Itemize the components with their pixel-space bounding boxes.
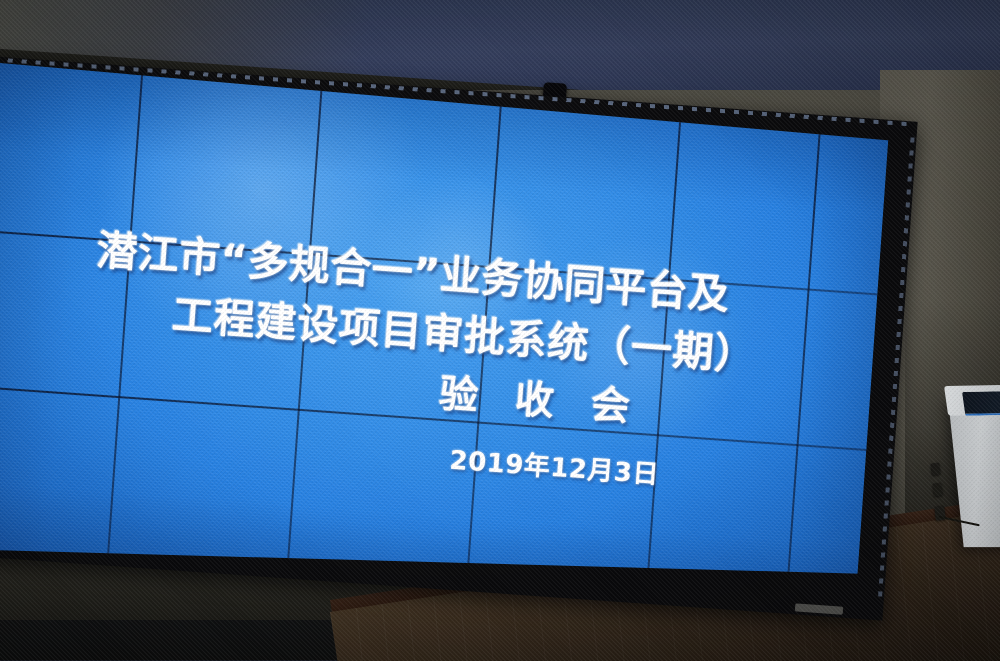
room-photo-scene: 潜江市“多规合一”业务协同平台及 工程建设项目审批系统（一期） 验 收 会 20… bbox=[0, 0, 1000, 661]
wall-outlet-plate[interactable] bbox=[930, 462, 940, 475]
panel-seam-horizontal bbox=[0, 229, 913, 299]
panel-seam-vertical bbox=[105, 63, 144, 582]
podium-monitor[interactable] bbox=[962, 391, 1000, 416]
panel-seam-vertical bbox=[464, 88, 503, 607]
video-wall-screen[interactable]: 潜江市“多规合一”业务协同平台及 工程建设项目审批系统（一期） 验 收 会 20… bbox=[0, 62, 913, 614]
wall-outlet-plate[interactable] bbox=[932, 483, 943, 497]
panel-seam-vertical bbox=[644, 101, 683, 614]
slide-date: 2019年12月3日 bbox=[448, 440, 660, 492]
slide-content: 潜江市“多规合一”业务协同平台及 工程建设项目审批系统（一期） 验 收 会 20… bbox=[0, 62, 913, 614]
slide-title-line-3: 验 收 会 bbox=[438, 363, 644, 433]
slide-title-line-2: 工程建设项目审批系统（一期） bbox=[170, 281, 758, 382]
screen-vignette bbox=[0, 62, 913, 614]
video-wall[interactable]: 潜江市“多规合一”业务协同平台及 工程建设项目审批系统（一期） 验 收 会 20… bbox=[0, 56, 918, 621]
panel-seam-horizontal bbox=[0, 385, 913, 455]
slide-title-line-1: 潜江市“多规合一”业务协同平台及 bbox=[95, 216, 732, 321]
panel-seam-vertical bbox=[285, 76, 324, 595]
panel-seam-vertical bbox=[783, 111, 822, 614]
screen-texture bbox=[0, 62, 913, 614]
